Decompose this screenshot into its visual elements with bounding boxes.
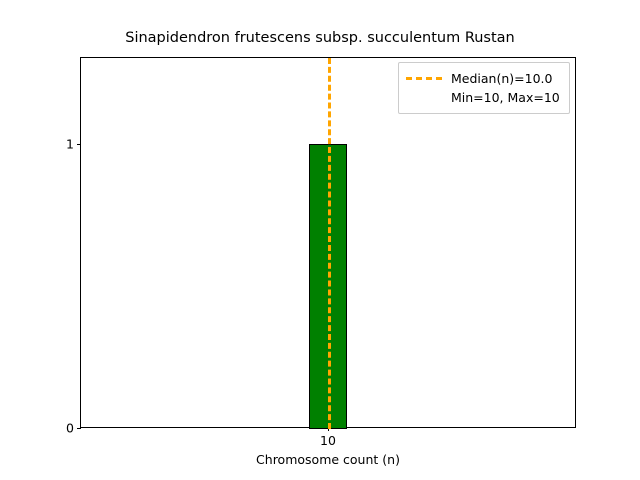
median-line	[328, 58, 331, 429]
chart-title: Sinapidendron frutescens subsp. succulen…	[0, 29, 640, 47]
x-tick-label: 10	[320, 433, 336, 448]
y-tick-label: 0	[66, 420, 74, 435]
legend-entry-median: Median(n)=10.0	[406, 69, 560, 88]
y-tick-mark	[77, 428, 81, 429]
y-tick-label: 1	[66, 137, 74, 152]
dashed-line-icon	[406, 73, 442, 85]
chart-figure: Sinapidendron frutescens subsp. succulen…	[0, 0, 640, 480]
legend-entry-minmax: Min=10, Max=10	[406, 88, 560, 107]
x-axis-label: Chromosome count (n)	[80, 452, 576, 467]
legend-label: Min=10, Max=10	[451, 90, 560, 105]
chart-legend: Median(n)=10.0 Min=10, Max=10	[398, 62, 570, 114]
legend-label: Median(n)=10.0	[451, 71, 552, 86]
